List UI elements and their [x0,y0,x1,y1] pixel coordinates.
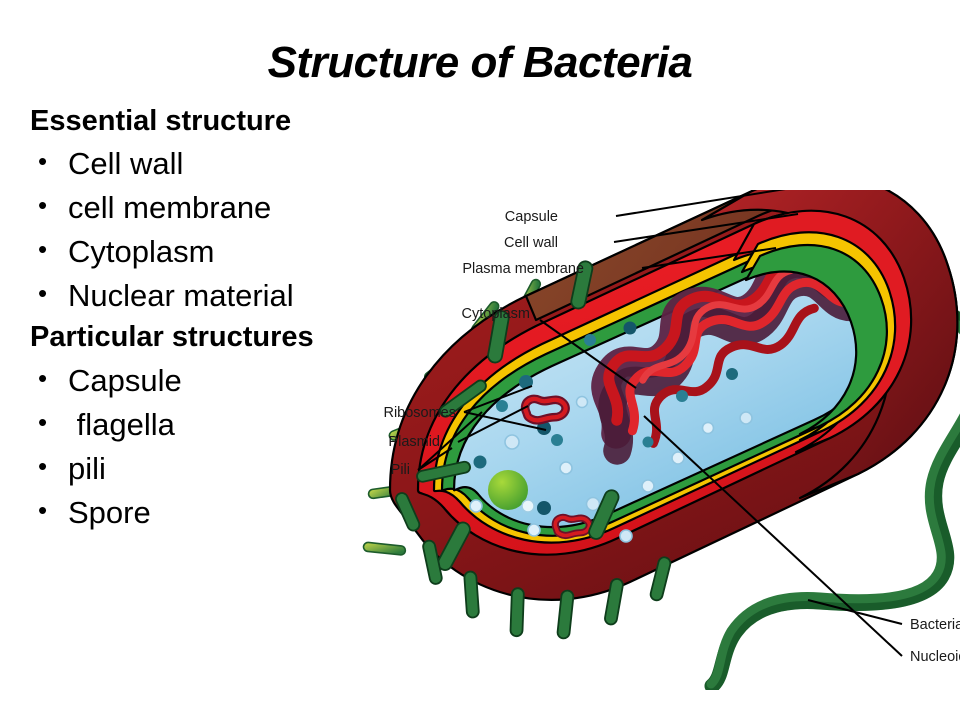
bacterial-cell-diagram: Capsule Cell wall Plasma membrane Cytopl… [330,190,960,690]
page-title: Structure of Bacteria [0,38,960,88]
label-ribosomes: Ribosomes [383,405,456,421]
label-plasmid: Plasmid [388,434,440,450]
label-bacterial-flagellum: Bacterial Flagellum [910,617,960,633]
list-item: Cell wall [30,142,430,186]
slide-canvas: Structure of Bacteria Essential structur… [0,0,960,720]
label-capsule: Capsule [505,209,558,225]
label-nucleoid: Nucleoid (circular DNA) [910,649,960,665]
label-plasma-membrane: Plasma membrane [462,261,584,277]
label-cytoplasm: Cytoplasm [462,306,531,322]
section-heading-essential: Essential structure [30,104,430,138]
label-pili: Pili [391,462,410,478]
label-cell-wall: Cell wall [504,235,558,251]
